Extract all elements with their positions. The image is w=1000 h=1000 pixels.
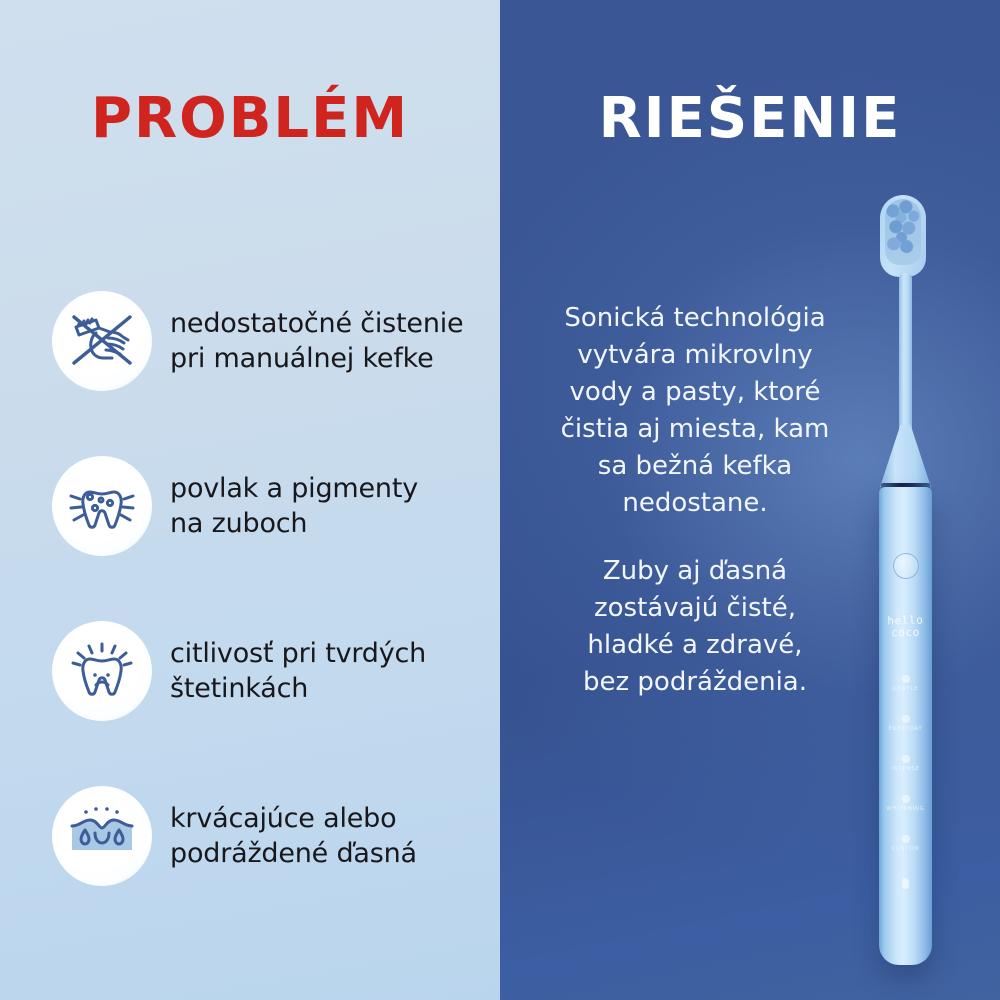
solution-panel: RIEŠENIE Sonická technológia vytvára mik… [500,0,1000,1000]
mode-custom: CUSTOM [879,835,932,852]
bleeding-gums-icon [52,786,152,886]
mode-intense-icon [902,755,910,763]
problem-item-manual-brushing: nedostatočné čistenie pri manuálnej kefk… [52,285,492,397]
mode-gentle-icon [902,675,910,683]
mode-intense: INTENSE [879,755,932,772]
mode-gentle: GENTLE [879,675,932,692]
sensitive-tooth-icon [52,621,152,721]
problem-item-text: krvácajúce alebo podráždené ďasná [170,801,417,871]
problem-title: PROBLÉM [0,86,500,151]
brush-bristles [885,199,921,265]
power-button[interactable] [893,553,919,579]
problem-item-plaque-pigments: povlak a pigmenty na zuboch [52,450,492,562]
problem-item-bleeding-gums: krvácajúce alebo podráždené ďasná [52,780,492,892]
problem-list: nedostatočné čistenie pri manuálnej kefk… [52,285,492,945]
mode-whitening-icon [902,795,910,803]
problem-item-text: povlak a pigmenty na zuboch [170,471,418,541]
problem-item-text: nedostatočné čistenie pri manuálnej kefk… [170,306,463,376]
electric-toothbrush-product-image: hello coco GENTLE EVERYDAY INTENSE [852,185,972,975]
stained-tooth-icon [52,456,152,556]
mode-everyday: EVERYDAY [879,715,932,732]
no-manual-toothbrush-icon [52,291,152,391]
mode-whitening: WHITENING [879,795,932,812]
comparison-infographic: PROBLÉM [0,0,1000,1000]
solution-paragraph-2: Zuby aj ďasná zostávajú čisté, hladké a … [520,553,870,701]
problem-item-text: citlivosť pri tvrdých štetinkách [170,636,426,706]
mode-custom-icon [902,835,910,843]
brand-logo: hello coco [879,615,932,641]
brush-neck [899,273,912,448]
mode-everyday-icon [902,715,910,723]
mode-indicator-list: GENTLE EVERYDAY INTENSE WHITENING CUSTOM [879,675,932,875]
problem-item-sensitivity: citlivosť pri tvrdých štetinkách [52,615,492,727]
brush-cone [880,425,931,487]
problem-panel: PROBLÉM [0,0,500,1000]
solution-title: RIEŠENIE [500,86,1000,151]
battery-indicator-icon [902,878,909,889]
solution-paragraph-1: Sonická technológia vytvára mikrovlny vo… [520,300,870,521]
